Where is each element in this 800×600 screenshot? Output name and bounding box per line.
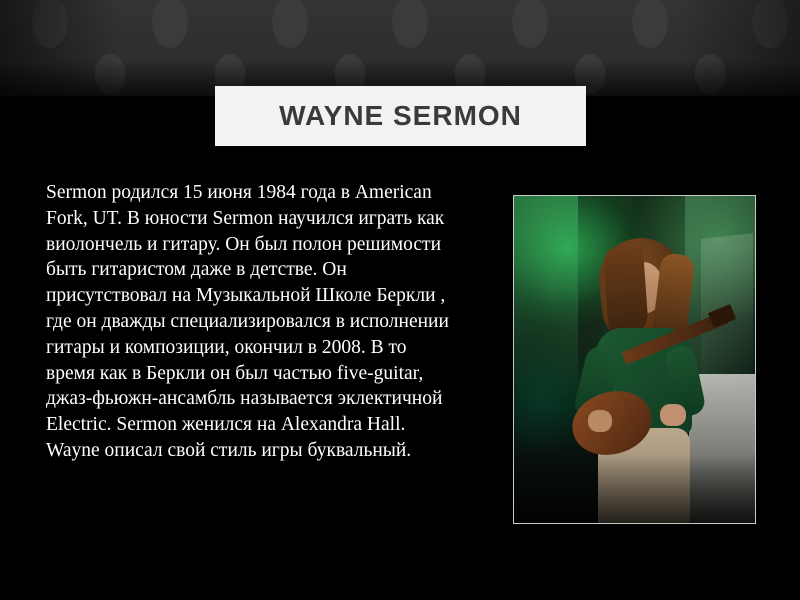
photo-musician-strumming-hand — [588, 410, 612, 432]
photo-musician-hair-front — [603, 245, 649, 340]
slide-body-text: Sermon родился 15 июня 1984 года в Ameri… — [46, 180, 451, 464]
photo-stage-lighting — [514, 196, 755, 523]
slide-title-plate: WAYNE SERMON — [215, 86, 586, 146]
presentation-slide: WAYNE SERMON Sermon родился 15 июня 1984… — [0, 0, 800, 600]
slide-title: WAYNE SERMON — [279, 100, 522, 132]
slide-photo — [513, 195, 756, 524]
photo-musician-fretting-hand — [660, 404, 686, 426]
photo-bottom-shadow — [514, 453, 755, 523]
photo-green-light-left — [514, 196, 578, 401]
